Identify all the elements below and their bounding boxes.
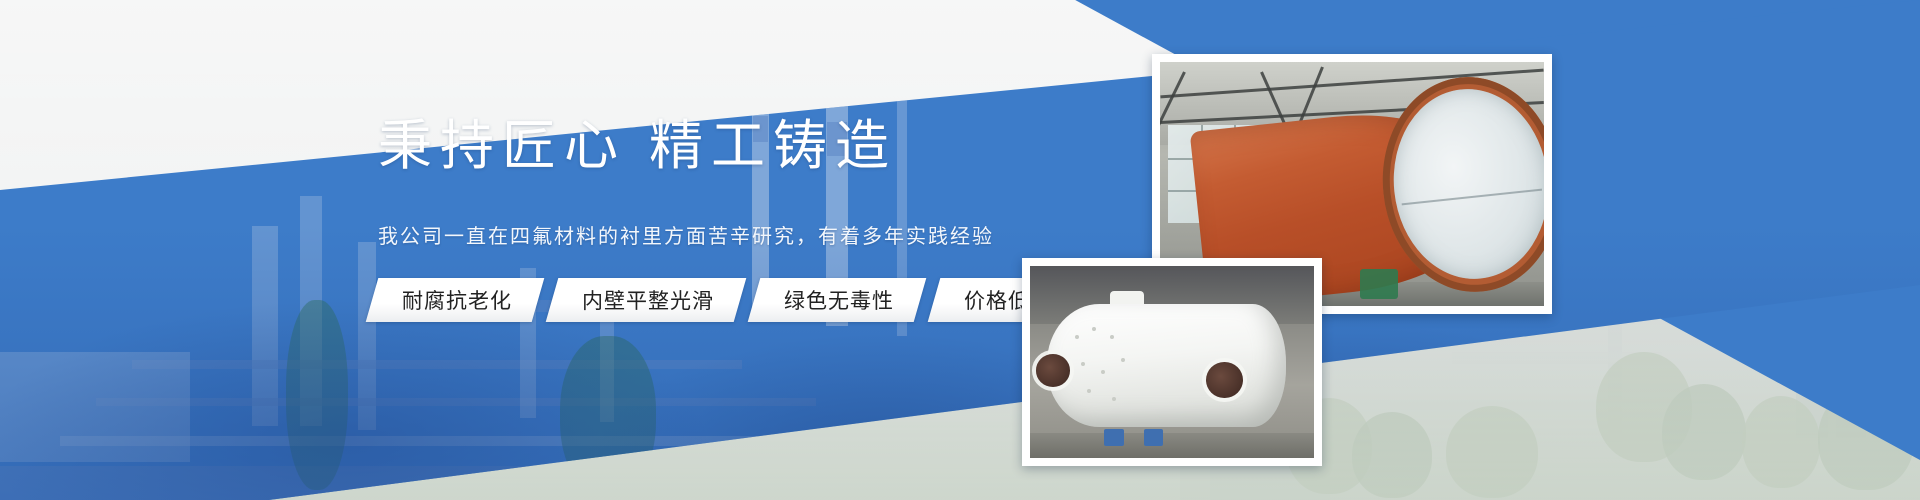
hero-copy: 秉持匠心 精工铸造 我公司一直在四氟材料的衬里方面苦辛研究，有着多年实践经验 耐… [0, 0, 1920, 500]
tank-nozzle [1036, 354, 1070, 387]
tank-saddle-support [1104, 429, 1124, 446]
tank-saddle-support [1144, 429, 1164, 446]
feature-tag-label: 绿色无毒性 [784, 285, 894, 315]
feature-tag-label: 耐腐抗老化 [402, 285, 512, 315]
page-subtitle: 我公司一直在四氟材料的衬里方面苦辛研究，有着多年实践经验 [378, 220, 994, 249]
feature-tag-non-toxic[interactable]: 绿色无毒性 [748, 278, 927, 322]
feature-tag-list: 耐腐抗老化 内壁平整光滑 绿色无毒性 价格低廉 [372, 278, 1092, 322]
yard-ground [1030, 433, 1314, 458]
feature-tag-corrosion-resistant[interactable]: 耐腐抗老化 [366, 278, 545, 322]
page-title: 秉持匠心 精工铸造 [378, 118, 897, 175]
green-equipment [1360, 269, 1398, 298]
white-storage-tank-photo-inner [1030, 266, 1314, 458]
hero-banner: 秉持匠心 精工铸造 我公司一直在四氟材料的衬里方面苦辛研究，有着多年实践经验 耐… [0, 0, 1920, 500]
white-storage-tank-photo[interactable] [1022, 258, 1322, 466]
feature-tag-smooth-inner-wall[interactable]: 内壁平整光滑 [546, 278, 747, 322]
yard-scene [1030, 266, 1314, 458]
feature-tag-label: 内壁平整光滑 [582, 285, 714, 315]
